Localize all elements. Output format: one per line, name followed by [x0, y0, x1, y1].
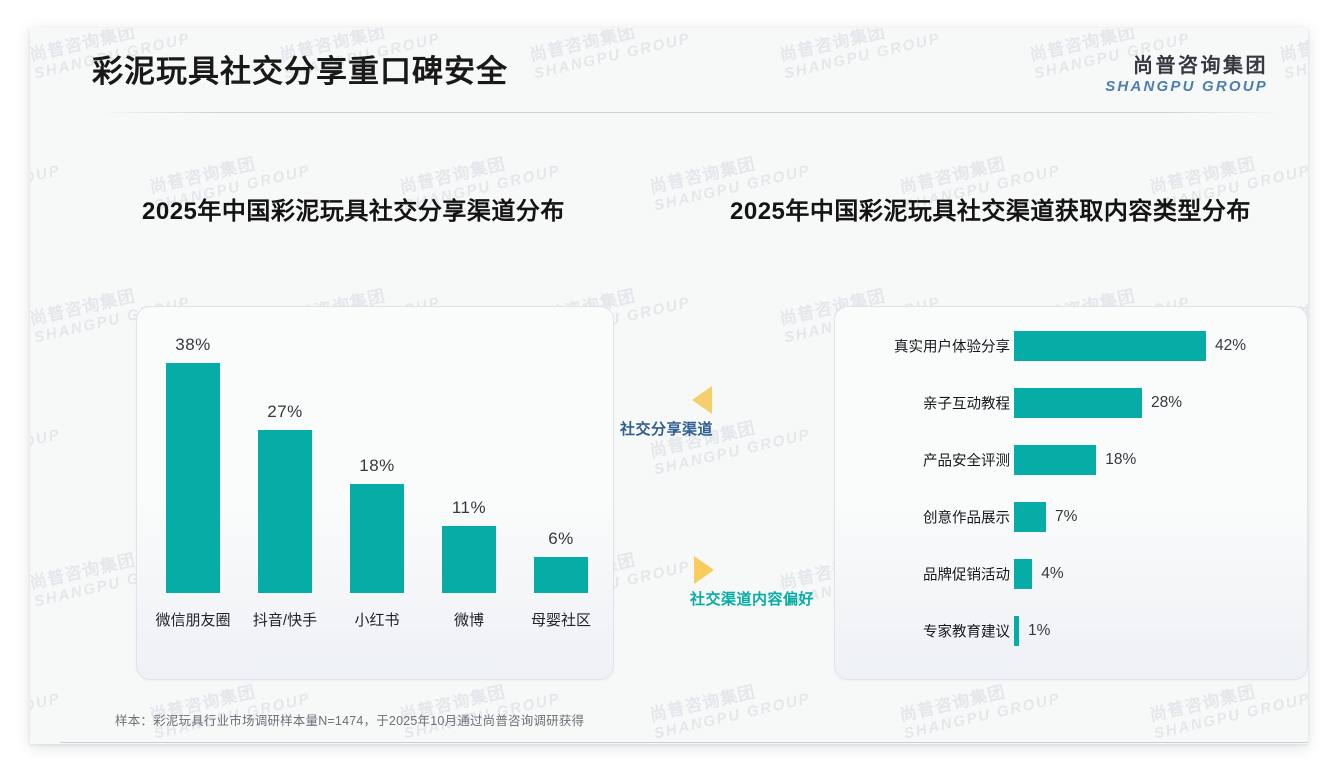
bar-group: 38%微信朋友圈	[146, 306, 240, 678]
bar-group: 27%抖音/快手	[238, 306, 332, 678]
bar-category-label: 母婴社区	[514, 609, 608, 630]
slide-card: 尚普咨询集团SHANGPU GROUP尚普咨询集团SHANGPU GROUP尚普…	[30, 28, 1308, 744]
logo-english-name: SHANGPU GROUP	[1105, 78, 1268, 97]
header-divider	[100, 112, 1280, 113]
bar	[1014, 331, 1206, 361]
bar	[1014, 445, 1096, 475]
logo-chinese-name: 尚普咨询集团	[1105, 54, 1268, 78]
bar	[350, 484, 404, 593]
bar-row: 创意作品展示7%	[834, 497, 1306, 537]
bar-value-label: 4%	[1041, 565, 1063, 583]
bar-value-label: 27%	[238, 402, 332, 422]
content-type-distribution-chart: 真实用户体验分享42%亲子互动教程28%产品安全评测18%创意作品展示7%品牌促…	[834, 306, 1306, 678]
bar-value-label: 11%	[422, 498, 516, 518]
watermark-text: 尚普咨询集团SHANGPU GROUP	[898, 670, 1062, 742]
watermark-text: 尚普咨询集团SHANGPU GROUP	[648, 670, 812, 742]
bar-value-label: 18%	[330, 456, 424, 476]
bar-category-label: 微博	[422, 609, 516, 630]
watermark-text: 尚普咨询集团SHANGPU GROUP	[148, 670, 312, 742]
left-chart-title: 2025年中国彩泥玩具社交分享渠道分布	[142, 191, 565, 226]
bar-value-label: 6%	[514, 529, 608, 549]
bar-value-label: 1%	[1028, 622, 1050, 640]
bar-row: 亲子互动教程28%	[834, 383, 1306, 423]
brand-logo: 尚普咨询集团 SHANGPU GROUP	[1105, 54, 1268, 97]
bar-group: 18%小红书	[330, 306, 424, 678]
bar	[258, 430, 312, 593]
bar	[1014, 502, 1046, 532]
watermark-text: 尚普咨询集团SHANGPU GROUP	[1148, 670, 1308, 742]
bar	[1014, 388, 1142, 418]
watermark-text: 尚普咨询集团SHANGPU GROUP	[30, 406, 62, 478]
bar-value-label: 18%	[1105, 451, 1136, 469]
bar-value-label: 42%	[1215, 337, 1246, 355]
bar	[1014, 616, 1019, 646]
watermark-text: 尚普咨询集团SHANGPU GROUP	[398, 670, 562, 742]
sample-note: 样本：彩泥玩具行业市场调研样本量N=1474，于2025年10月通过尚普咨询调研…	[115, 710, 584, 729]
slide-footer: ©2025.12 SHANGPU GROUP www.shangpu-china…	[60, 743, 1308, 744]
annotation-content-preference: 社交渠道内容偏好	[690, 556, 814, 609]
bar-value-label: 38%	[146, 335, 240, 355]
page-title: 彩泥玩具社交分享重口碑安全	[92, 46, 508, 91]
triangle-left-icon	[692, 386, 712, 414]
bar-row: 品牌促销活动4%	[834, 554, 1306, 594]
triangle-right-icon	[694, 556, 714, 584]
bar-category-label: 小红书	[330, 609, 424, 630]
bar-category-label: 微信朋友圈	[146, 609, 240, 630]
bar-value-label: 28%	[1151, 394, 1182, 412]
bar-group: 11%微博	[422, 306, 516, 678]
annotation-label: 社交渠道内容偏好	[690, 588, 814, 609]
bar-category-label: 专家教育建议	[834, 621, 1010, 642]
bar-row: 产品安全评测18%	[834, 440, 1306, 480]
bar-value-label: 7%	[1055, 508, 1077, 526]
bar-row: 专家教育建议1%	[834, 611, 1306, 651]
annotation-label: 社交分享渠道	[620, 418, 713, 439]
watermark-text: 尚普咨询集团SHANGPU GROUP	[30, 670, 62, 742]
bar	[442, 526, 496, 593]
social-share-channel-chart: 38%微信朋友圈27%抖音/快手18%小红书11%微博6%母婴社区	[136, 306, 612, 678]
bar-category-label: 亲子互动教程	[834, 393, 1010, 414]
right-chart-title: 2025年中国彩泥玩具社交渠道获取内容类型分布	[730, 191, 1251, 226]
bar-category-label: 产品安全评测	[834, 450, 1010, 471]
bar	[534, 557, 588, 593]
bar-category-label: 创意作品展示	[834, 507, 1010, 528]
bar-category-label: 真实用户体验分享	[834, 336, 1010, 357]
slide-header: 彩泥玩具社交分享重口碑安全 尚普咨询集团 SHANGPU GROUP	[30, 28, 1308, 113]
annotation-social-share-channel: 社交分享渠道	[620, 386, 713, 439]
bar-category-label: 抖音/快手	[238, 609, 332, 630]
bar	[166, 363, 220, 593]
watermark-text: 尚普咨询集团SHANGPU GROUP	[30, 142, 62, 214]
bar	[1014, 559, 1032, 589]
bar-group: 6%母婴社区	[514, 306, 608, 678]
bar-row: 真实用户体验分享42%	[834, 326, 1306, 366]
bar-category-label: 品牌促销活动	[834, 564, 1010, 585]
